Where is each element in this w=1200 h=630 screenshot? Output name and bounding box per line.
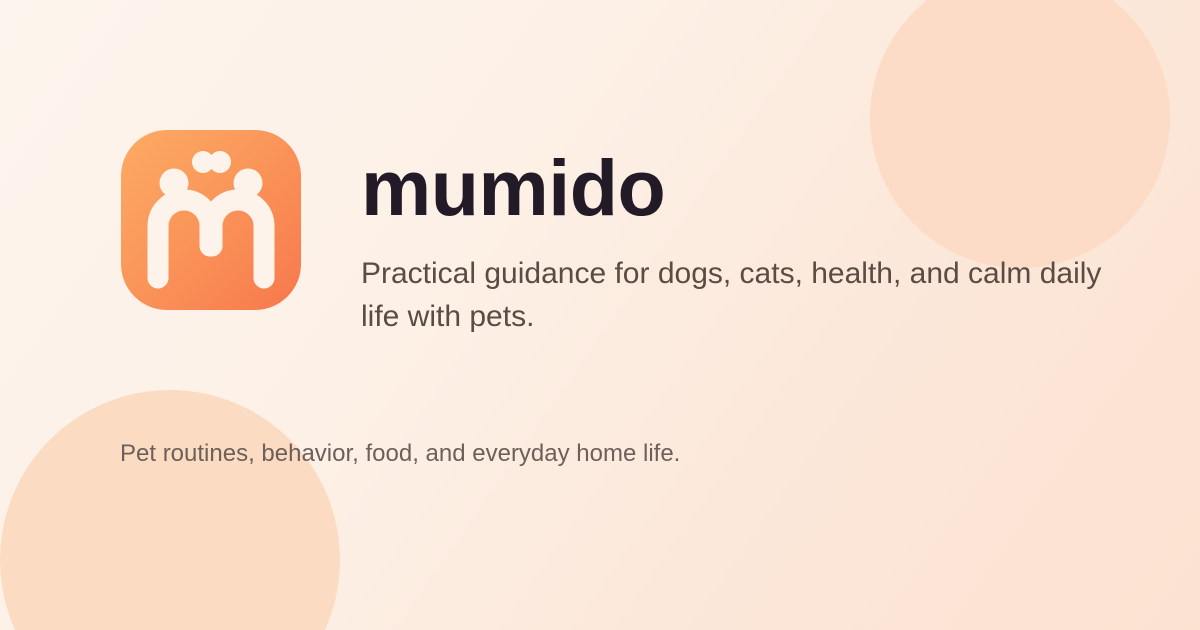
app-logo-tile <box>121 130 301 310</box>
decorative-circle-bottom-left <box>0 390 340 630</box>
og-card-canvas: { "brand": { "name": "mumido", "tagline"… <box>0 0 1200 630</box>
brand-title: mumido <box>361 148 1131 227</box>
brand-tagline: Practical guidance for dogs, cats, healt… <box>361 253 1131 338</box>
hero-block: mumido Practical guidance for dogs, cats… <box>121 130 1131 338</box>
brand-text-group: mumido Practical guidance for dogs, cats… <box>361 130 1131 338</box>
footnote-caption: Pet routines, behavior, food, and everyd… <box>120 440 680 468</box>
mumido-m-people-logo-icon <box>121 130 301 310</box>
